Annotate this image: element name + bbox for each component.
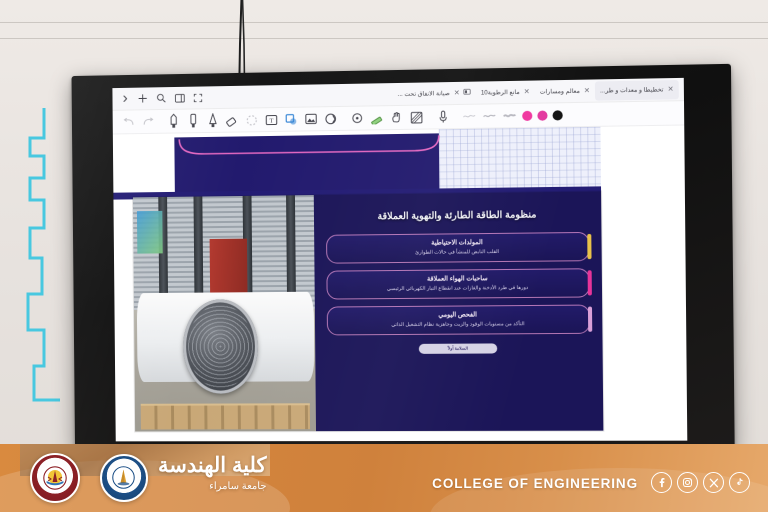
- canvas-area[interactable]: HURRIC HURRIC منظومة الطاقة الطارئة والت…: [113, 125, 687, 441]
- wall-seam: [0, 22, 768, 23]
- x-twitter-icon[interactable]: [703, 472, 724, 493]
- tv-bezel: ✕ تخطيطا و معدات و طر... ✕ معالم ومسارات…: [72, 64, 735, 454]
- tab-label: صيانة الانفاق تحت ...: [398, 90, 450, 98]
- box-subtitle: القلب النابض للمنشأ في حالات الطوارئ: [335, 248, 580, 257]
- tab-close-icon[interactable]: ✕: [584, 87, 590, 95]
- redo-icon[interactable]: [138, 112, 158, 132]
- box-title: ساحبات الهواء العملاقة: [335, 273, 580, 283]
- highlighter-icon[interactable]: [202, 110, 222, 130]
- banner-arabic-text: كلية الهندسة جامعة سامراء: [158, 455, 267, 492]
- tab-item[interactable]: ✕ معالم ومسارات: [535, 81, 595, 101]
- fan-blade-ring: [183, 299, 259, 394]
- slide-content: منظومة الطاقة الطارئة والتهوية العملاقة …: [314, 191, 604, 431]
- box-title: المولدات الاحتياطية: [335, 237, 580, 248]
- wall-seam: [0, 38, 768, 39]
- wall-mounted-tv: ✕ تخطيطا و معدات و طر... ✕ معالم ومسارات…: [68, 70, 728, 454]
- slide-point-box[interactable]: ساحبات الهواء العملاقة دورها في طرد الأد…: [326, 268, 589, 299]
- lasso-icon[interactable]: [242, 110, 262, 130]
- wave-thick-icon[interactable]: [499, 105, 519, 125]
- grid-icon[interactable]: [407, 107, 427, 127]
- box-title: الفحص اليومي: [336, 309, 581, 319]
- ink-annotation-stroke: [177, 134, 443, 158]
- banner-arabic-subtitle: جامعة سامراء: [158, 481, 267, 492]
- eraser-icon[interactable]: [222, 110, 242, 130]
- tab-label: تخطيطا و معدات و طر...: [600, 86, 663, 94]
- tab-label: مانع الرطوبة10: [481, 88, 520, 96]
- tab-close-icon[interactable]: ✕: [668, 85, 674, 93]
- box-accent-bar: [588, 270, 592, 295]
- red-equipment-box: [210, 238, 248, 295]
- graph-paper-region: [439, 127, 601, 190]
- tab-item[interactable]: ✕ صيانة الانفاق تحت ...: [393, 83, 476, 103]
- social-links: [651, 472, 750, 493]
- presentation-slide[interactable]: HURRIC HURRIC منظومة الطاقة الطارئة والت…: [133, 191, 603, 431]
- hand-icon[interactable]: [387, 107, 407, 127]
- facebook-icon[interactable]: [651, 472, 672, 493]
- tab-item[interactable]: ✕ تخطيطا و معدات و طر...: [595, 79, 679, 100]
- banner-english-title: COLLEGE OF ENGINEERING: [432, 476, 638, 491]
- back-navigation-icon[interactable]: ‹: [117, 91, 133, 107]
- instagram-icon[interactable]: [677, 472, 698, 493]
- tab-close-icon[interactable]: ✕: [454, 89, 460, 97]
- wall-decoration-line: [4, 108, 60, 408]
- fan-grill: [188, 304, 254, 389]
- slide-cta-button[interactable]: السلامة أولاً: [419, 343, 497, 353]
- slide-title: منظومة الطاقة الطارئة والتهوية العملاقة: [326, 209, 589, 223]
- university-of-samarra-logo: [30, 453, 80, 503]
- color-swatch-black[interactable]: [552, 110, 562, 120]
- slide-point-box[interactable]: الفحص اليومي التأكد من مستويات الوقود وا…: [327, 304, 591, 335]
- wave-medium-icon[interactable]: [479, 106, 499, 126]
- box-subtitle: دورها في طرد الأدخنة والغازات عند انقطاع…: [335, 284, 580, 293]
- pen-icon[interactable]: [163, 111, 183, 131]
- fan-brand-label: HURRIC: [264, 335, 291, 341]
- box-accent-bar: [587, 234, 591, 259]
- svg-text:T: T: [270, 117, 274, 124]
- page-icon: [464, 89, 471, 97]
- tab-bar-actions: [133, 92, 207, 103]
- panel-toggle-button[interactable]: [175, 93, 185, 102]
- tab-label: معالم ومسارات: [540, 87, 580, 95]
- marker-icon[interactable]: [183, 111, 203, 131]
- tab-close-icon[interactable]: ✕: [524, 88, 530, 96]
- laser-icon[interactable]: [347, 108, 367, 128]
- industrial-fan-photo: HURRIC HURRIC: [133, 195, 316, 431]
- undo-icon[interactable]: [118, 112, 138, 132]
- add-tab-button[interactable]: [138, 93, 148, 103]
- shape-icon[interactable]: [281, 109, 301, 129]
- logo-emblem: [111, 465, 137, 491]
- tiktok-icon[interactable]: [729, 472, 750, 493]
- college-of-engineering-logo: [100, 454, 148, 502]
- image-icon[interactable]: [301, 109, 321, 129]
- logo-emblem: [41, 464, 69, 492]
- whiteboard-app: ✕ تخطيطا و معدات و طر... ✕ معالم ومسارات…: [112, 78, 687, 442]
- wave-thin-icon[interactable]: [459, 106, 479, 126]
- banner-arabic-title: كلية الهندسة: [158, 455, 267, 476]
- text-box-icon[interactable]: T: [262, 109, 282, 129]
- fullscreen-button[interactable]: [194, 93, 203, 102]
- institution-banner: كلية الهندسة جامعة سامراء COLLEGE OF ENG…: [0, 444, 768, 512]
- search-button[interactable]: [156, 93, 166, 103]
- wooden-pallet: [141, 403, 310, 429]
- fan-brand-label: HURRIC: [142, 331, 168, 337]
- color-swatch-magenta-dark[interactable]: [537, 110, 547, 120]
- color-swatch-magenta[interactable]: [522, 110, 532, 120]
- box-accent-bar: [588, 306, 592, 331]
- blue-tarp: [137, 211, 163, 253]
- sticker-icon[interactable]: [321, 108, 341, 128]
- tab-item[interactable]: ✕ مانع الرطوبة10: [476, 82, 535, 102]
- tv-screen: ✕ تخطيطا و معدات و طر... ✕ معالم ومسارات…: [112, 78, 687, 442]
- ruler-icon[interactable]: [367, 108, 387, 128]
- microphone-icon[interactable]: [433, 107, 453, 127]
- box-subtitle: التأكد من مستويات الوقود والزيت وجاهزية …: [336, 321, 581, 330]
- slide-point-box[interactable]: المولدات الاحتياطية القلب النابض للمنشأ …: [326, 232, 589, 264]
